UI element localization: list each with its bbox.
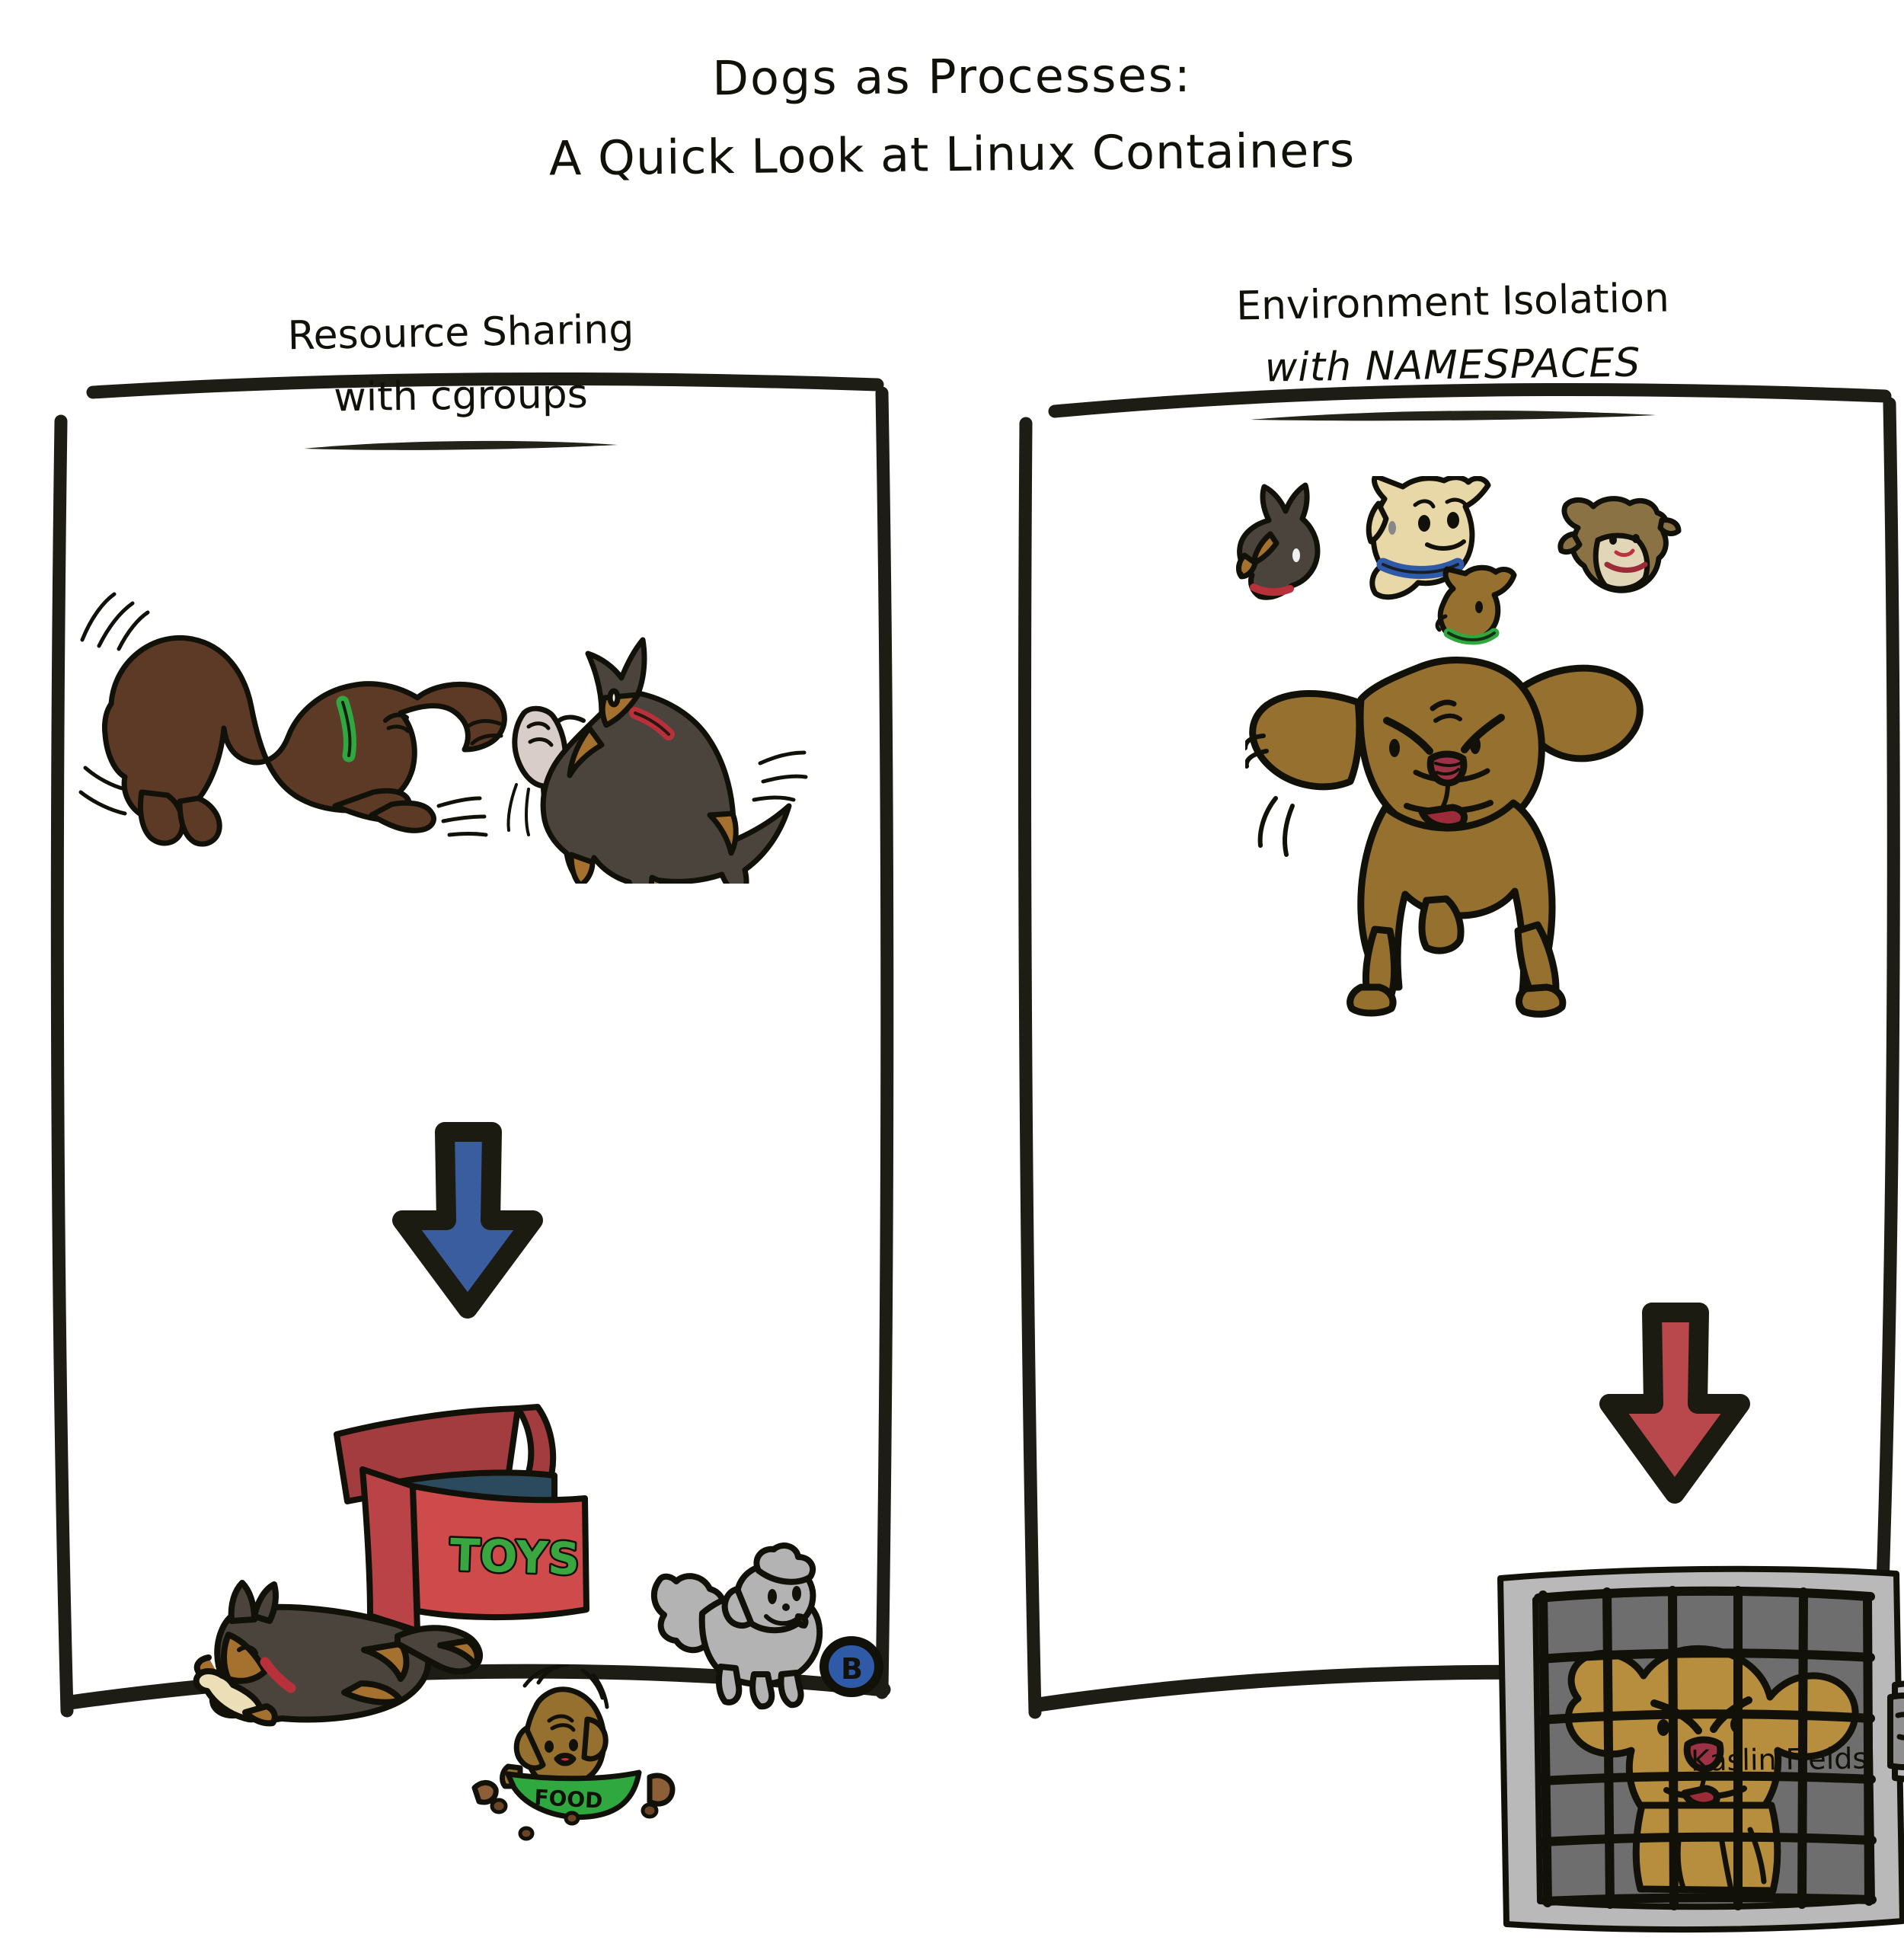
panel-heading-line-2: with NAMESPACES: [1024, 339, 1882, 392]
panel-heading-line-2: with cgroups: [30, 369, 892, 423]
panel-heading-environment-isolation: Environment Isolation with NAMESPACES: [1024, 282, 1881, 423]
panel-heading-resource-sharing: Resource Sharing with cgroups: [30, 312, 891, 453]
panel-heading-line-1: Resource Sharing: [30, 304, 892, 362]
heading-underline: [1248, 406, 1659, 423]
down-arrow-red: [1588, 1299, 1763, 1512]
food-bowl-label: FOOD: [534, 1785, 604, 1814]
ball-label: B: [841, 1652, 863, 1686]
poodle-with-ball: B: [647, 1531, 883, 1721]
title-line-1: Dogs as Processes:: [0, 46, 1904, 107]
angry-brown-dog: [1245, 617, 1672, 1021]
comic-canvas: Dogs as Processes: A Quick Look at Linux…: [0, 0, 1904, 1790]
heading-underline: [301, 436, 621, 453]
author-credit: Kaslin Fields: [1691, 1741, 1868, 1777]
panel-resource-sharing: Resource Sharing with cgroups: [30, 274, 891, 1706]
scene-tug-of-war: [69, 564, 815, 884]
dog-head-pug: [1561, 499, 1679, 591]
dog-head-doberman: [1238, 485, 1318, 597]
down-arrow-blue: [381, 1120, 556, 1325]
title-line-2: A Quick Look at Linux Containers: [0, 121, 1904, 188]
panel-environment-isolation: Environment Isolation with NAMESPACES: [1024, 274, 1881, 1706]
dog-with-bone: [175, 1554, 495, 1760]
panel-heading-line-1: Environment Isolation: [1024, 273, 1882, 331]
page-title: Dogs as Processes: A Quick Look at Linux…: [0, 53, 1904, 178]
